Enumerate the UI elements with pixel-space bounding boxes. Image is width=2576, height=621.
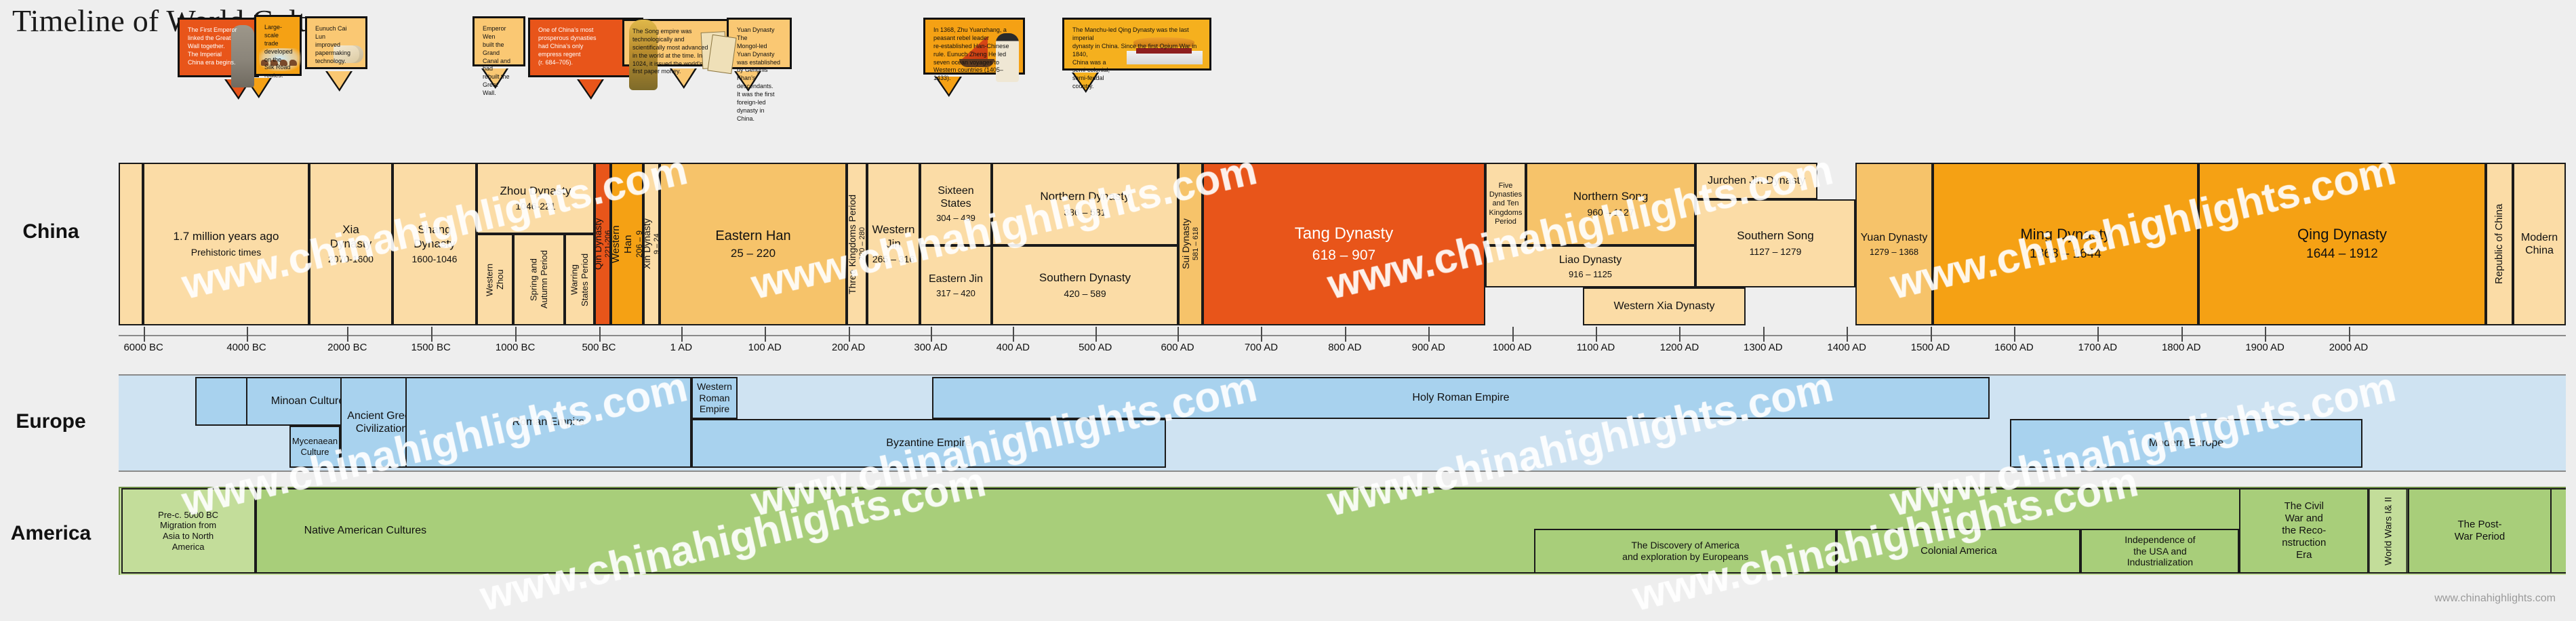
china-cell-13: Northern Dynasty386 – 581 xyxy=(992,163,1178,245)
europe-cell-2: MycenaeanCulture xyxy=(289,426,340,468)
callout-emperor-wen: Emperor Wen built the Grand Canal and ha… xyxy=(472,16,525,66)
callout-text: The Song empire was technologically and … xyxy=(632,28,729,76)
axis-tick xyxy=(347,327,348,342)
callout-text: Emperor Wen built the Grand Canal and ha… xyxy=(483,25,515,98)
axis-tick xyxy=(1261,327,1262,342)
china-cell-21: Southern Song1127 – 1279 xyxy=(1695,199,1855,287)
axis-tick xyxy=(849,327,850,342)
axis-tick xyxy=(1428,327,1430,342)
china-cell-8: Eastern Han25 – 220 xyxy=(660,163,847,325)
china-cell-0 xyxy=(119,163,143,325)
cell-name: Colonial America xyxy=(1920,545,1997,557)
callout-text: The First Emperor linked the Great Wall … xyxy=(188,26,249,66)
cell-years: 420 – 589 xyxy=(1064,288,1106,300)
cell-years: 386 – 581 xyxy=(1064,207,1106,218)
cell-years: 1600-1046 xyxy=(412,254,458,265)
axis-tick xyxy=(2349,327,2350,342)
axis-tick xyxy=(1596,327,1597,342)
cell-name: Modern Europe xyxy=(2149,437,2223,449)
cell-years: 2070-1600 xyxy=(328,254,374,265)
cell-name: Independence ofthe USA andIndustrializat… xyxy=(2125,534,2195,568)
cell-name: Xin Dynasty xyxy=(643,219,653,270)
axis-tick-label: 4000 BC xyxy=(218,342,275,353)
axis-line xyxy=(119,335,2566,336)
china-cell-16: Tang Dynasty618 – 907 xyxy=(1203,163,1485,325)
europe-cell-6: Byzantine Empire xyxy=(691,419,1166,468)
america-cell-0: Pre-c. 5000 BCMigration fromAsia to Nort… xyxy=(121,488,256,574)
cell-years: 960 – 1127 xyxy=(1587,207,1634,218)
cell-name: World Wars I& II xyxy=(2383,496,2394,565)
cell-years: 9 – 24 xyxy=(653,234,660,255)
cell-years: 618 – 907 xyxy=(1312,247,1375,264)
axis-tick xyxy=(144,327,145,342)
china-zhou-sub-2: WarringStates Period xyxy=(565,234,595,325)
callout-tail xyxy=(247,78,270,96)
axis-tick xyxy=(765,327,766,342)
cell-name: The Post-War Period xyxy=(2455,519,2505,543)
cell-years: 1046-221 xyxy=(515,201,555,212)
cell-name: Western Xia Dynasty xyxy=(1613,300,1714,313)
cell-name: Five Dynasties and Ten Kingdoms Period xyxy=(1487,182,1525,226)
cell-years: 220 – 280 xyxy=(858,228,867,261)
axis-tick-label: 1500 BC xyxy=(403,342,460,353)
china-cell-3: ShangDynasty1600-1046 xyxy=(393,163,477,325)
cell-name: Pre-c. 5000 BCMigration fromAsia to Nort… xyxy=(158,510,218,552)
callout-yuan-mongol: Yuan Dynasty The Mongol-led Yuan Dynasty… xyxy=(727,18,792,69)
america-cell-2: The Discovery of Americaand exploration … xyxy=(1534,529,1836,574)
cell-name: Holy Roman Empire xyxy=(1412,391,1509,404)
axis-tick xyxy=(2181,327,2183,342)
site-credit: www.chinahighlights.com xyxy=(2434,593,2556,605)
china-cell-6: WesternHan 206 – 9 xyxy=(611,163,643,325)
cell-name: Eastern Jin xyxy=(929,273,983,285)
china-zhou-sub-1: Spring andAutumn Period xyxy=(513,234,565,325)
cell-name: Republic of China xyxy=(2493,204,2505,284)
callout-qing-last-imperial: The Manchu-led Qing Dynasty was the last… xyxy=(1062,18,1211,71)
cell-name: Minoan Culture xyxy=(271,395,345,407)
axis-tick-label: 1900 AD xyxy=(2236,342,2293,353)
callout-song-technology: The Song empire was technologically and … xyxy=(622,19,739,66)
cell-name: WarringStates Period xyxy=(569,253,590,306)
china-cell-14: Southern Dynasty420 – 589 xyxy=(992,245,1178,325)
axis-tick-label: 1 AD xyxy=(653,342,710,353)
axis-tick xyxy=(1763,327,1765,342)
callout-text: The Manchu-led Qing Dynasty was the last… xyxy=(1072,26,1201,91)
cell-name: Qing Dynasty xyxy=(2297,226,2387,243)
cell-years: 1368 – 1644 xyxy=(2030,247,2101,262)
cell-name: Zhou Dynasty xyxy=(500,184,571,198)
axis-tick-label: 200 AD xyxy=(820,342,877,353)
axis-tick-label: 600 AD xyxy=(1149,342,1206,353)
europe-timeline-band: Minoan CultureMycenaeanCultureAncient Gr… xyxy=(119,374,2566,469)
cell-name: The Discovery of Americaand exploration … xyxy=(1622,540,1748,563)
cell-name: Roman Empire xyxy=(512,416,585,428)
cell-name: Northern Dynasty xyxy=(1040,190,1129,203)
callout-papermaking: Eunuch Cai Lun improved papermaking tech… xyxy=(305,16,367,69)
china-cell-10: WesternJin265 – 316 xyxy=(867,163,920,325)
cell-name: Spring andAutumn Period xyxy=(528,251,549,309)
axis-tick-label: 700 AD xyxy=(1232,342,1289,353)
axis-tick xyxy=(431,327,432,342)
axis-tick xyxy=(1512,327,1514,342)
axis-tick-label: 1000 AD xyxy=(1484,342,1541,353)
china-cell-9: Three Kingdoms Period 220 – 280 xyxy=(847,163,867,325)
axis-tick xyxy=(1013,327,1014,342)
cell-name: Sui Dynasty xyxy=(1180,219,1192,270)
china-cell-4: Zhou Dynasty1046-221 xyxy=(477,163,595,234)
cell-name: WesternZhou xyxy=(484,263,505,296)
cell-years: 317 – 420 xyxy=(936,288,975,299)
cell-years: 265 – 316 xyxy=(872,254,914,265)
europe-cell-5: WesternRomanEmpire xyxy=(691,377,738,419)
axis-tick-label: 400 AD xyxy=(984,342,1041,353)
cell-years: 221-206 xyxy=(604,231,611,258)
cell-name: Northern Song xyxy=(1573,190,1649,203)
europe-cell-4: Roman Empire xyxy=(405,377,691,468)
cell-name: The CivilWar andthe Reco-nstructionEra xyxy=(2282,500,2326,561)
axis-tick-label: 6000 BC xyxy=(115,342,172,353)
cell-years: 304 – 439 xyxy=(936,213,975,224)
cell-name: Southern Dynasty xyxy=(1039,271,1131,285)
america-timeline-band: Pre-c. 5000 BCMigration fromAsia to Nort… xyxy=(119,487,2566,575)
china-timeline-band: 1.7 million years agoPrehistoric timesXi… xyxy=(119,163,2566,325)
axis-tick-label: 1800 AD xyxy=(2153,342,2210,353)
axis-tick xyxy=(2014,327,2015,342)
china-cell-27: ModernChina xyxy=(2513,163,2566,325)
axis-tick xyxy=(247,327,248,342)
axis-tick-label: 2000 AD xyxy=(2320,342,2377,353)
europe-cell-7: Holy Roman Empire xyxy=(932,377,1990,419)
cell-name: Three Kingdoms Period xyxy=(847,194,858,294)
axis-tick xyxy=(1847,327,1848,342)
axis-tick-label: 2000 BC xyxy=(319,342,376,353)
callout-text: Large-scale trade developed on the Silk … xyxy=(264,24,291,80)
cell-name: Jurchen Jin Dynasty xyxy=(1708,174,1805,187)
callout-text: One of China’s most prosperous dynasties… xyxy=(538,26,633,66)
axis-tick-label: 1600 AD xyxy=(1986,342,2042,353)
axis-tick-label: 500 AD xyxy=(1067,342,1124,353)
cell-name: Southern Song xyxy=(1737,229,1813,243)
callout-text: Yuan Dynasty The Mongol-led Yuan Dynasty… xyxy=(737,26,782,123)
america-cell-7: The Post-War Period xyxy=(2408,488,2552,574)
axis-tick xyxy=(931,327,932,342)
row-label-america: America xyxy=(0,522,102,545)
china-cell-2: XiaDynasty2070-1600 xyxy=(309,163,393,325)
time-axis: 6000 BC4000 BC2000 BC1500 BC1000 BC500 B… xyxy=(119,327,2566,362)
cell-years: 1644 – 1912 xyxy=(2306,247,2378,262)
cell-name: Qin Dynasty xyxy=(595,218,604,270)
callouts-layer: The First Emperor linked the Great Wall … xyxy=(0,0,2576,169)
cell-years: 1279 – 1368 xyxy=(1870,247,1918,258)
america-cell-4: Independence ofthe USA andIndustrializat… xyxy=(2080,529,2239,574)
china-cell-11: SixteenStates304 – 439 xyxy=(920,163,992,245)
cell-name: Liao Dynasty xyxy=(1559,254,1622,266)
callout-text: In 1368, Zhu Yuanzhang, a peasant rebel … xyxy=(933,26,1015,83)
axis-tick xyxy=(515,327,517,342)
callout-ming-zhu-zheng-he: In 1368, Zhu Yuanzhang, a peasant rebel … xyxy=(923,18,1025,75)
axis-tick-label: 1100 AD xyxy=(1567,342,1624,353)
china-cell-25: Qing Dynasty1644 – 1912 xyxy=(2198,163,2486,325)
axis-tick xyxy=(2265,327,2266,342)
axis-tick-label: 1500 AD xyxy=(1902,342,1959,353)
callout-text: Eunuch Cai Lun improved papermaking tech… xyxy=(315,25,357,65)
cell-name: WesternJin xyxy=(872,223,915,251)
axis-tick xyxy=(1178,327,1179,342)
china-cell-1: 1.7 million years agoPrehistoric times xyxy=(143,163,309,325)
china-cell-23: Yuan Dynasty1279 – 1368 xyxy=(1855,163,1933,325)
axis-tick-label: 300 AD xyxy=(902,342,959,353)
china-zhou-sub-0: WesternZhou xyxy=(477,234,513,325)
china-cell-24: Ming Dynasty1368 – 1644 xyxy=(1933,163,2198,325)
callout-tang-prosperity: One of China’s most prosperous dynasties… xyxy=(528,18,643,77)
china-cell-22: Western Xia Dynasty xyxy=(1583,287,1746,325)
row-label-china: China xyxy=(0,220,102,243)
china-cell-12: Eastern Jin317 – 420 xyxy=(920,245,992,325)
axis-tick xyxy=(681,327,683,342)
callout-silk-road: Large-scale trade developed on the Silk … xyxy=(254,15,302,76)
axis-tick-label: 1700 AD xyxy=(2069,342,2126,353)
cell-name: Yuan Dynasty xyxy=(1861,231,1928,244)
america-cell-5: The CivilWar andthe Reco-nstructionEra xyxy=(2239,488,2369,574)
axis-tick-label: 1000 BC xyxy=(487,342,544,353)
europe-cell-8: Modern Europe xyxy=(2010,419,2362,468)
china-cell-17: Five Dynasties and Ten Kingdoms Period xyxy=(1485,163,1526,245)
axis-tick xyxy=(599,327,601,342)
callout-tail xyxy=(226,79,249,97)
europe-cell-0 xyxy=(195,377,248,426)
cell-name: MycenaeanCulture xyxy=(292,436,338,457)
cell-name: Tang Dynasty xyxy=(1295,224,1393,244)
axis-tick xyxy=(2097,327,2099,342)
china-cell-18: Northern Song960 – 1127 xyxy=(1526,163,1695,245)
cell-years: Prehistoric times xyxy=(191,247,261,258)
cell-name: SixteenStates xyxy=(938,184,973,210)
china-cell-26: Republic of China xyxy=(2486,163,2513,325)
cell-name: Native American Cultures xyxy=(304,524,427,537)
cell-name: WesternRomanEmpire xyxy=(697,381,732,415)
cell-name: ModernChina xyxy=(2521,231,2558,257)
callout-tail xyxy=(327,71,350,89)
america-cell-3: Colonial America xyxy=(1836,529,2080,574)
cell-name: 1.7 million years ago xyxy=(174,230,279,243)
axis-tick-label: 1300 AD xyxy=(1735,342,1792,353)
axis-tick-label: 1200 AD xyxy=(1651,342,1708,353)
china-cell-7: Xin Dynasty 9 – 24 xyxy=(643,163,660,325)
axis-tick xyxy=(1931,327,1932,342)
cell-name: XiaDynasty xyxy=(330,223,371,251)
america-cell-6: World Wars I& II xyxy=(2369,488,2408,574)
axis-tick-label: 500 BC xyxy=(571,342,628,353)
axis-tick-label: 800 AD xyxy=(1316,342,1373,353)
callout-first-emperor: The First Emperor linked the Great Wall … xyxy=(178,18,259,77)
cell-name: WesternHan xyxy=(611,225,635,263)
cell-years: 581 – 618 xyxy=(1192,228,1201,261)
cell-years: 916 – 1125 xyxy=(1569,269,1612,280)
cell-name: ShangDynasty xyxy=(414,223,455,251)
axis-tick xyxy=(1345,327,1346,342)
row-label-europe: Europe xyxy=(0,410,102,433)
axis-tick xyxy=(1679,327,1681,342)
axis-tick xyxy=(1095,327,1097,342)
axis-tick-label: 900 AD xyxy=(1400,342,1457,353)
china-cell-15: Sui Dynasty 581 – 618 xyxy=(1178,163,1203,325)
cell-years: 25 – 220 xyxy=(731,247,776,260)
cell-name: Ming Dynasty xyxy=(2020,226,2110,243)
axis-tick-label: 100 AD xyxy=(736,342,793,353)
cell-name: Eastern Han xyxy=(715,228,790,244)
callout-tail xyxy=(579,79,602,97)
cell-years: 206 – 9 xyxy=(635,231,643,258)
china-cell-19: Liao Dynasty916 – 1125 xyxy=(1485,245,1695,287)
cell-name: Byzantine Empire xyxy=(886,437,971,449)
china-cell-5: Qin Dynasty 221-206 xyxy=(595,163,611,325)
cell-years: 1127 – 1279 xyxy=(1750,246,1802,258)
axis-tick-label: 1400 AD xyxy=(1818,342,1875,353)
